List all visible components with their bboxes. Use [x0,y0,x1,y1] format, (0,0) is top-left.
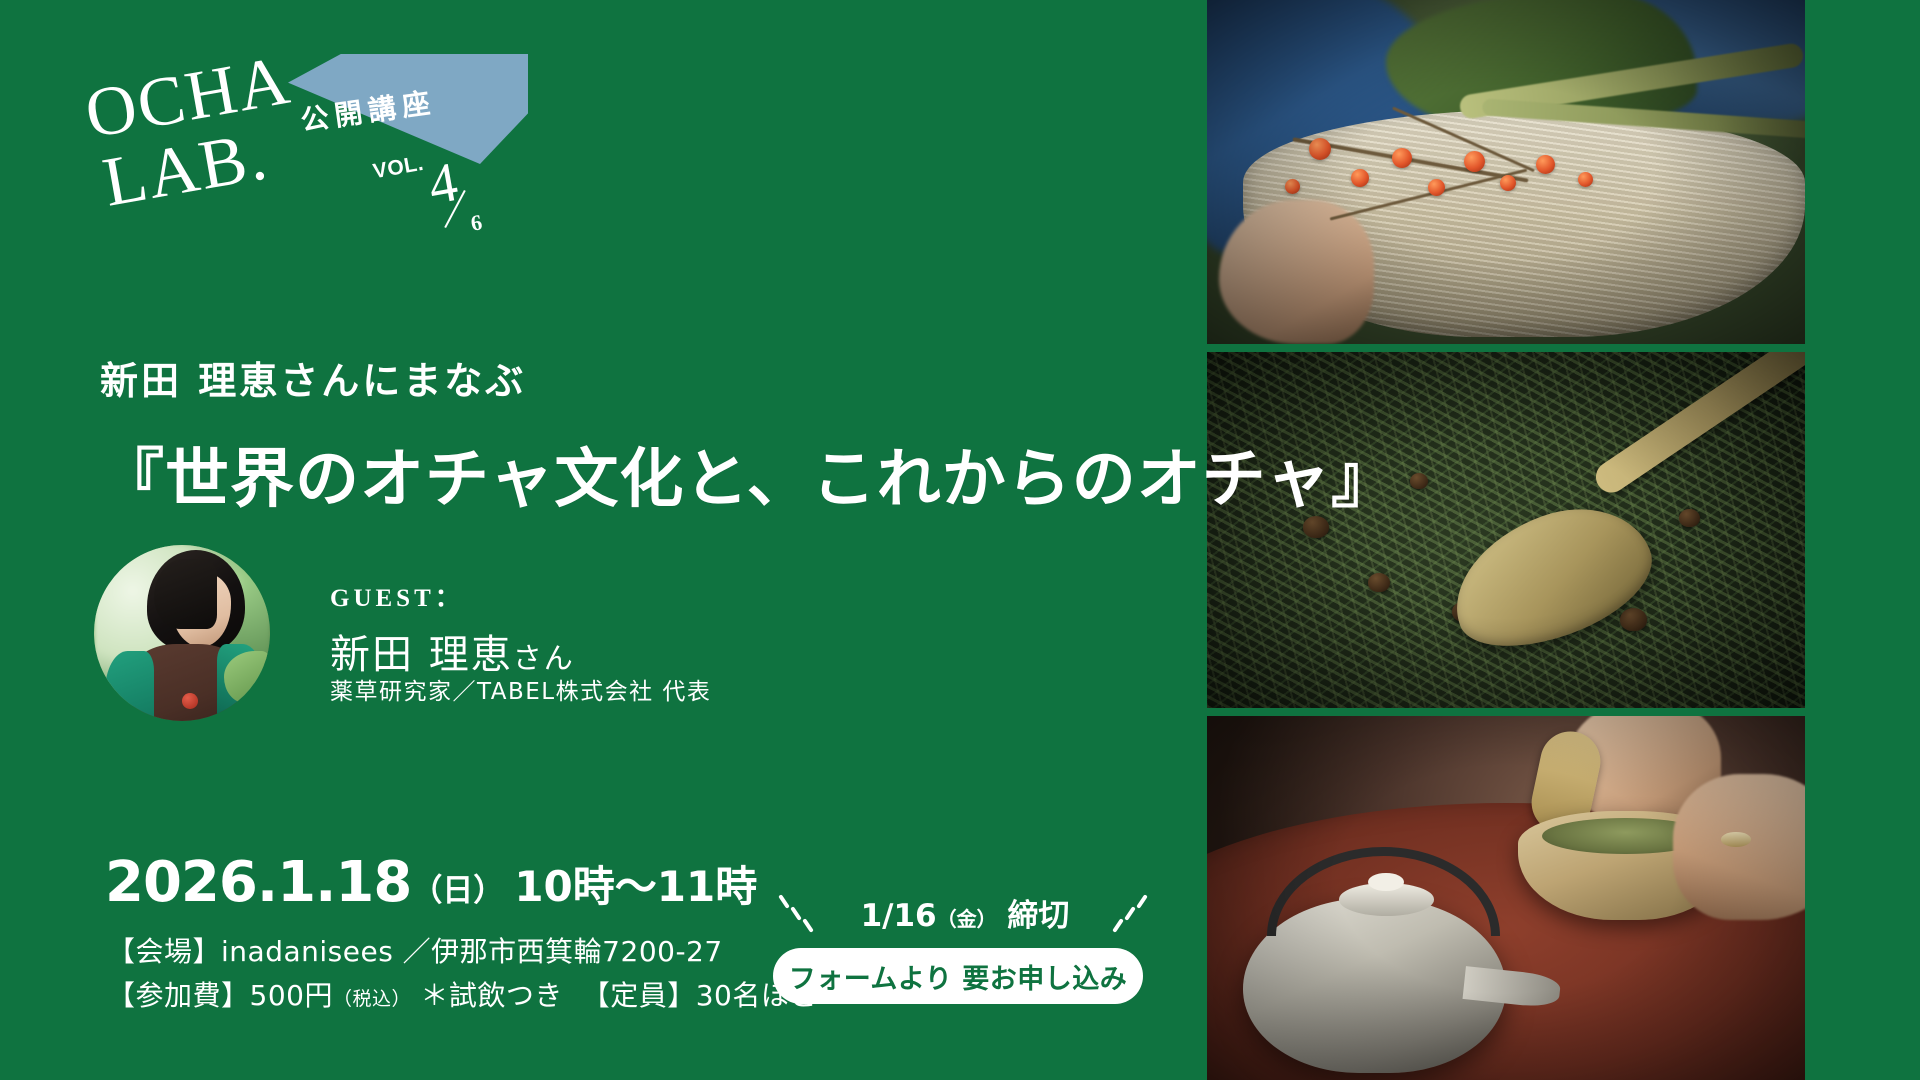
logo-vol-label: VOL. [371,152,425,184]
venue-value: inadanisees ／伊那市西箕輪7200-27 [221,935,723,968]
deadline-block: 1/16（金） 締切 [790,890,1140,938]
photo-column [1207,0,1805,1080]
event-datetime: 2026.1.18（日）10時〜11時 [105,850,757,915]
guest-label: GUEST： [330,578,464,614]
apply-form-button[interactable]: フォームより 要お申し込み [773,948,1143,1004]
event-date: 2026.1.18 [105,850,411,915]
capacity-label: 【定員】 [582,979,696,1012]
deadline-date: 1/16 [861,898,937,934]
photo-berries [1207,0,1805,344]
logo-vol-total: 6 [469,209,484,237]
event-day-of-week: （日） [411,873,504,909]
page-title: 『世界のオチャ文化と、これからのオチャ』 [100,428,1396,520]
headline-lead: 新田 理恵さんにまなぶ [100,350,526,405]
deadline-word: 締切 [1007,898,1069,934]
fee-value: 500円 [250,979,333,1012]
event-venue-line: 【会場】inadanisees ／伊那市西箕輪7200-27 [107,930,723,970]
venue-label: 【会場】 [107,935,221,968]
ocha-lab-logo: 公開講座 OCHA LAB. VOL. 4 6 [85,48,545,228]
event-fee-line: 【参加費】500円（税込） ＊試飲つき 【定員】30名ほど [107,974,818,1014]
photo-teapot-and-bowl [1207,716,1805,1080]
fee-label: 【参加費】 [107,979,250,1012]
fee-tax-note: （税込） [333,988,411,1010]
apply-form-button-label: フォームより 要お申し込み [789,957,1128,996]
guest-role: 薬草研究家／TABEL株式会社 代表 [330,672,711,706]
fee-extra-note: ＊試飲つき [420,979,563,1012]
deadline-text: 1/16（金） 締切 [790,890,1140,935]
avatar [94,545,270,721]
deadline-day-of-week: （金） [937,907,997,931]
event-time: 10時〜11時 [514,862,757,911]
photo-dried-tea-leaves [1207,352,1805,708]
guest-name-suffix: さん [513,641,575,675]
poster-canvas: 公開講座 OCHA LAB. VOL. 4 6 新田 理恵さんにまなぶ 『世界の… [0,0,1920,1080]
